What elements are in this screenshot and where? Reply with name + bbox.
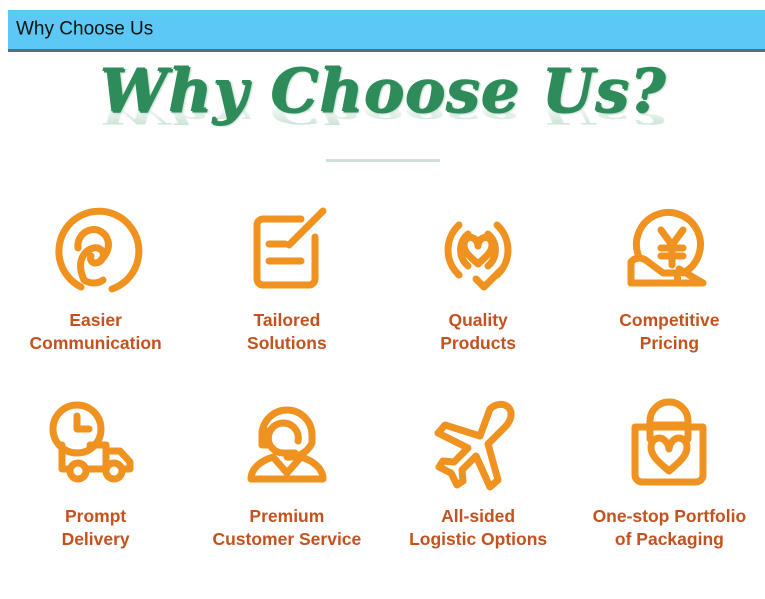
shopping-bag-heart-icon xyxy=(617,391,721,499)
feature-grid: Easier Communication Tailored Solutions xyxy=(0,195,765,587)
feature-item-all-sided-logistic-options[interactable]: All-sided Logistic Options xyxy=(383,391,574,587)
feature-row: Prompt Delivery Premium Customer Service xyxy=(0,391,765,587)
feature-label: Premium Customer Service xyxy=(212,505,361,551)
hero-divider xyxy=(326,159,440,162)
heart-signal-check-icon xyxy=(428,195,528,303)
feature-item-premium-customer-service[interactable]: Premium Customer Service xyxy=(191,391,382,587)
feature-item-one-stop-portfolio-packaging[interactable]: One-stop Portfolio of Packaging xyxy=(574,391,765,587)
window-title-bar: Why Choose Us xyxy=(8,10,765,52)
feature-item-easier-communication[interactable]: Easier Communication xyxy=(0,195,191,391)
delivery-truck-clock-icon xyxy=(44,391,148,499)
ear-in-circle-icon xyxy=(48,195,144,303)
feature-label: One-stop Portfolio of Packaging xyxy=(593,505,747,551)
feature-label: Quality Products xyxy=(440,309,516,355)
airplane-icon xyxy=(426,391,530,499)
page-content: Why Choose Us? Why Choose Us? Easier Com… xyxy=(0,55,765,599)
hand-holding-yen-coin-icon xyxy=(617,195,721,303)
feature-item-prompt-delivery[interactable]: Prompt Delivery xyxy=(0,391,191,587)
feature-item-competitive-pricing[interactable]: Competitive Pricing xyxy=(574,195,765,391)
hero-banner: Why Choose Us? Why Choose Us? xyxy=(0,55,765,167)
headset-agent-icon xyxy=(235,391,339,499)
feature-item-quality-products[interactable]: Quality Products xyxy=(383,195,574,391)
feature-label: Easier Communication xyxy=(30,309,162,355)
feature-item-tailored-solutions[interactable]: Tailored Solutions xyxy=(191,195,382,391)
page-title: Why Choose Us? xyxy=(0,61,765,121)
feature-label: All-sided Logistic Options xyxy=(409,505,547,551)
window-title: Why Choose Us xyxy=(16,18,153,40)
feature-label: Prompt Delivery xyxy=(62,505,130,551)
feature-label: Competitive Pricing xyxy=(619,309,719,355)
document-pencil-icon xyxy=(239,195,335,303)
feature-row: Easier Communication Tailored Solutions xyxy=(0,195,765,391)
feature-label: Tailored Solutions xyxy=(247,309,327,355)
